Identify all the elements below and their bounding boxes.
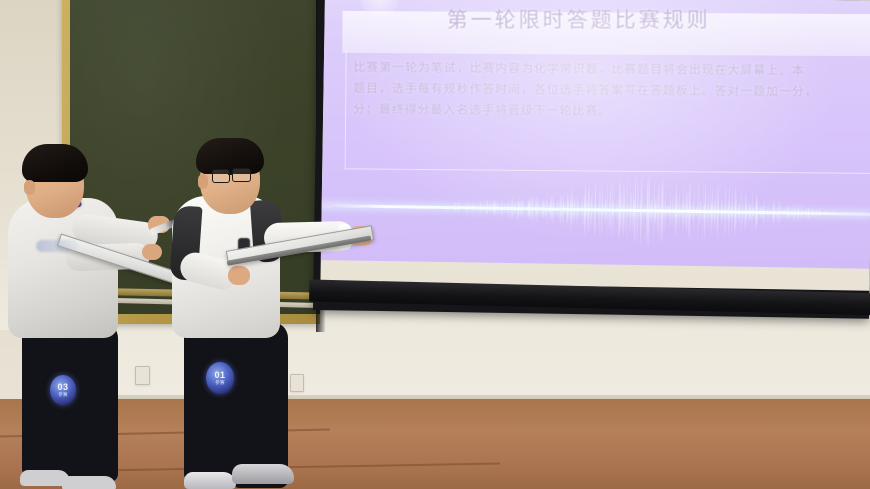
right-contestant-shoe-far: [184, 472, 236, 489]
right-contestant-badge: 01 参赛: [206, 362, 234, 394]
left-contestant-badge-subtext: 参赛: [58, 392, 67, 397]
glasses-right-lens: [232, 168, 251, 182]
contestant-right: 01 参赛: [160, 138, 370, 489]
right-contestant-shoe-near: [232, 464, 294, 484]
glasses-left-lens: [212, 169, 230, 183]
right-contestant-ear: [198, 174, 208, 189]
left-contestant-badge: 03 参赛: [50, 375, 76, 405]
right-contestant-badge-number: 01: [214, 371, 225, 380]
left-contestant-hand-lower: [142, 244, 162, 260]
photo-scene: 第一轮限时答题比赛规则 比赛第一轮为笔试，比赛内容为化学常识题，比赛题目将会出现…: [0, 0, 870, 489]
left-contestant-chest-print: [36, 240, 78, 252]
audio-waveform-graphic: [321, 160, 870, 261]
slide-title: 第一轮限时答题比赛规则: [447, 4, 711, 34]
slide-body-text: 比赛第一轮为笔试，比赛内容为化学常识题，比赛题目将会出现在大屏幕上。本 题目，选…: [353, 57, 870, 124]
left-contestant-shoe-near: [62, 476, 116, 489]
contestant-left: 03 参赛: [0, 140, 180, 489]
glasses-bridge: [228, 173, 233, 175]
right-contestant-badge-subtext: 参赛: [215, 380, 224, 385]
left-contestant-hair: [22, 144, 88, 182]
projection-screen: 第一轮限时答题比赛规则 比赛第一轮为笔试，比赛内容为化学常识题，比赛题目将会出现…: [313, 0, 870, 331]
projected-slide: 第一轮限时答题比赛规则 比赛第一轮为笔试，比赛内容为化学常识题，比赛题目将会出现…: [321, 0, 870, 269]
left-contestant-badge-number: 03: [57, 383, 68, 392]
right-contestant-hair: [196, 138, 264, 174]
slide-body-line: 分；最终得分最入名选手将晋级下一轮比赛。: [353, 99, 870, 124]
right-contestant-hand-left: [228, 266, 250, 285]
left-contestant-ear: [24, 180, 35, 195]
screen-canvas: 第一轮限时答题比赛规则 比赛第一轮为笔试，比赛内容为化学常识题，比赛题目将会出现…: [320, 0, 870, 291]
